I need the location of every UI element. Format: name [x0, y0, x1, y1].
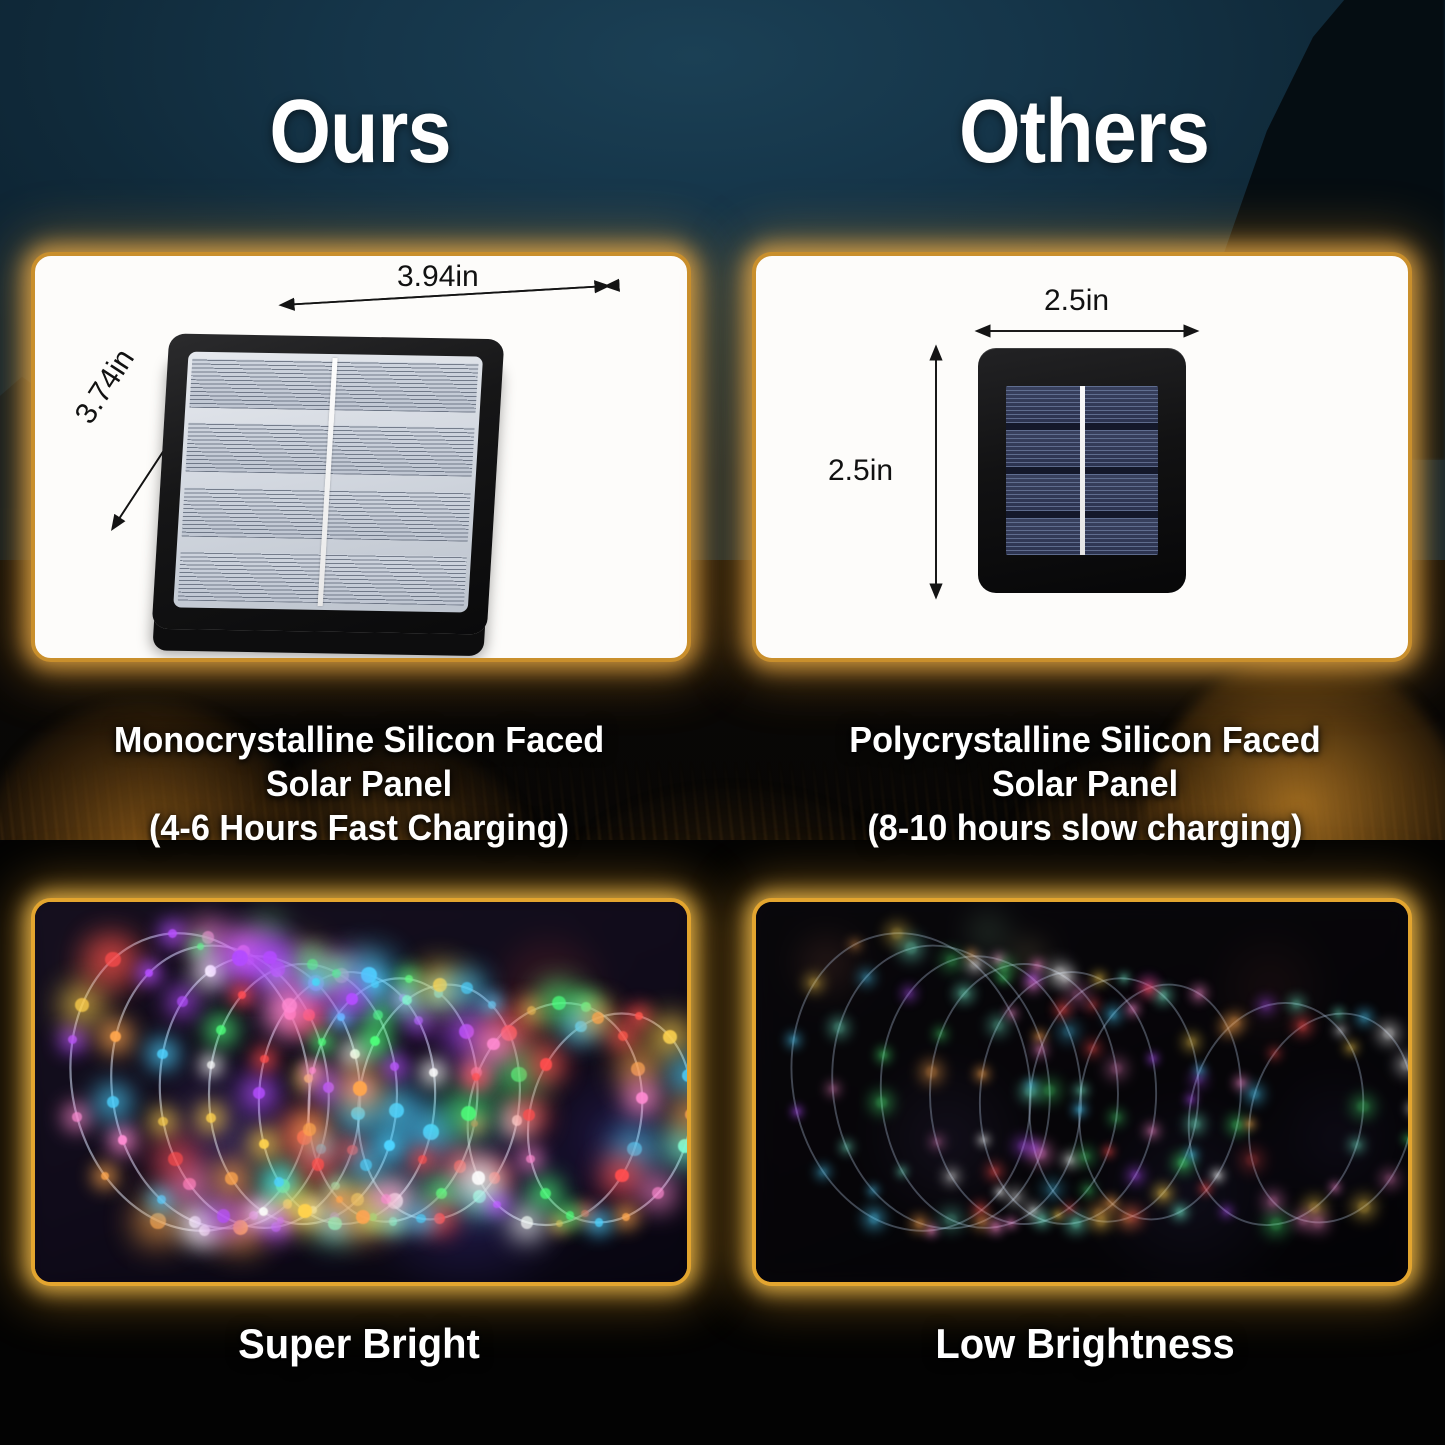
led-light-dot: [1058, 1005, 1067, 1014]
led-light-dot: [323, 1082, 334, 1093]
led-light-dot: [592, 1012, 604, 1024]
led-light-dot: [678, 1139, 687, 1153]
led-light-dot: [1332, 1184, 1338, 1190]
led-light-dot: [259, 1207, 268, 1216]
led-light-dot: [581, 1002, 591, 1012]
led-light-dot: [373, 1010, 383, 1020]
led-light-dot: [843, 1143, 850, 1150]
led-light-dot: [1360, 1013, 1369, 1022]
led-light-dot: [1036, 1046, 1044, 1054]
led-light-dot: [1109, 1010, 1118, 1019]
led-light-dot: [331, 1182, 339, 1190]
led-light-dot: [1047, 1184, 1058, 1195]
led-light-dot: [225, 1172, 237, 1184]
led-light-dot: [1038, 1215, 1046, 1223]
led-light-dot: [1084, 1186, 1092, 1194]
led-light-dot: [1197, 1067, 1203, 1073]
led-light-dot: [1000, 975, 1006, 981]
led-light-dot: [575, 1021, 587, 1033]
led-light-dot: [461, 1106, 476, 1121]
led-light-dot: [947, 1172, 956, 1181]
led-light-dot: [682, 1069, 687, 1082]
led-light-dot: [627, 1142, 642, 1157]
led-light-dot: [1246, 1154, 1257, 1165]
led-light-dot: [307, 959, 318, 970]
led-light-dot: [1401, 1059, 1408, 1070]
led-light-dot: [1080, 1152, 1090, 1162]
led-light-dot: [1008, 1010, 1015, 1017]
led-light-dot: [1150, 1055, 1156, 1061]
led-wire-loop: [764, 911, 1057, 1254]
led-light-dot: [1072, 989, 1084, 1001]
led-light-dot: [1036, 1033, 1043, 1040]
led-light-dot: [1066, 1205, 1073, 1212]
led-light-dot: [75, 998, 89, 1012]
led-light-dot: [423, 1124, 439, 1140]
led-light-dot: [316, 1144, 325, 1153]
led-light-dot: [303, 1009, 315, 1021]
led-light-dot: [1190, 1119, 1200, 1129]
led-string-lights-bright-photo: [35, 902, 687, 1282]
led-light-dot: [487, 1038, 499, 1050]
led-light-dot: [869, 1213, 880, 1224]
led-light-dot: [303, 1123, 315, 1135]
led-light-dot: [381, 1194, 391, 1204]
led-light-dot: [328, 1217, 341, 1230]
led-light-dot: [1077, 1087, 1085, 1095]
led-light-dot: [405, 975, 413, 983]
led-light-dot: [72, 1112, 82, 1122]
led-wire-loop: [43, 911, 336, 1254]
led-light-dot: [1194, 1075, 1203, 1084]
led-light-dot: [1029, 980, 1038, 989]
led-light-dot: [851, 941, 858, 948]
led-light-dot: [891, 928, 902, 939]
led-light-dot: [1111, 1063, 1122, 1074]
led-light-dot: [1105, 1148, 1111, 1154]
led-light-dot: [1034, 962, 1041, 969]
led-light-dot: [1076, 1106, 1083, 1113]
led-light-dot: [433, 978, 447, 992]
others-width-dimension-label: 2.5in: [1044, 284, 1109, 318]
led-light-dot: [197, 943, 204, 950]
led-light-dot: [157, 1195, 166, 1204]
led-light-dot: [631, 1062, 645, 1076]
led-light-dot: [371, 980, 379, 988]
led-light-dot: [418, 1155, 427, 1164]
led-light-dot: [945, 1214, 957, 1226]
led-light-dot: [1158, 1189, 1167, 1198]
panel-glass-surface: [173, 352, 483, 613]
led-light-dot: [1063, 1026, 1074, 1037]
led-light-dot: [970, 960, 979, 969]
led-wire-loop: [297, 970, 490, 1230]
led-light-dot: [270, 961, 285, 976]
led-light-dot: [337, 1013, 345, 1021]
led-light-dot: [105, 952, 120, 967]
led-light-dot: [318, 1038, 326, 1046]
column-titles: Ours Others: [0, 78, 1445, 190]
led-light-dot: [1008, 1220, 1014, 1226]
caption-line: Polycrystalline Silicon Faced: [742, 718, 1428, 762]
led-light-dot: [107, 1096, 119, 1108]
ours-panel-stage: 3.94in 3.74in: [35, 256, 687, 658]
led-light-dot: [819, 1168, 827, 1176]
led-light-dot: [347, 1145, 357, 1155]
led-light-dot: [471, 1120, 478, 1127]
polycrystalline-solar-panel-graphic: [978, 348, 1186, 593]
led-light-dot: [1053, 967, 1065, 979]
led-light-dot: [1337, 1027, 1344, 1034]
led-light-dot: [389, 1217, 398, 1226]
panel-glass-surface: [1006, 386, 1158, 555]
led-light-dot: [312, 978, 320, 986]
led-string-lights-dim-photo: [756, 902, 1408, 1282]
caption-super-bright: Super Bright: [16, 1318, 702, 1370]
led-light-dot: [905, 989, 914, 998]
led-light-dot: [459, 1024, 474, 1039]
led-light-dot: [472, 1171, 485, 1184]
caption-line: Solar Panel: [16, 762, 702, 806]
led-light-dot: [1237, 1079, 1245, 1087]
led-light-dot: [1358, 1201, 1369, 1212]
led-light-dot: [205, 965, 216, 976]
others-height-dimension-label: 2.5in: [828, 454, 893, 488]
led-light-dot: [206, 1113, 216, 1123]
led-light-dot: [1313, 1217, 1323, 1227]
led-light-dot: [1383, 1028, 1394, 1039]
led-light-dot: [1178, 1158, 1188, 1168]
led-light-dot: [622, 1213, 630, 1221]
led-light-dot: [829, 1085, 837, 1093]
led-light-dot: [389, 1103, 404, 1118]
led-light-dot: [454, 1160, 467, 1173]
led-light-dot: [501, 1025, 517, 1041]
led-light-dot: [177, 996, 188, 1007]
led-light-dot: [615, 1169, 629, 1183]
led-light-dot: [928, 1227, 935, 1234]
others-panel-stage: 2.5in 2.5in: [756, 256, 1408, 658]
title-others: Others: [766, 78, 1401, 186]
led-light-dot: [521, 1216, 533, 1228]
led-light-dot: [1025, 1087, 1035, 1097]
monocrystalline-solar-panel-graphic: [152, 333, 505, 634]
led-light-dot: [663, 1030, 677, 1044]
led-light-dot: [118, 1135, 127, 1144]
caption-others-panel: Polycrystalline Silicon Faced Solar Pane…: [742, 718, 1428, 850]
led-light-dot: [1129, 1005, 1137, 1013]
led-light-dot: [870, 1187, 877, 1194]
led-light-dot: [993, 1020, 1003, 1030]
led-light-dot: [353, 1081, 367, 1095]
comparison-layout: Ours Others: [0, 0, 1445, 1445]
caption-ours-panel: Monocrystalline Silicon Faced Solar Pane…: [16, 718, 702, 850]
led-light-dot: [1144, 984, 1153, 993]
led-light-dot: [1357, 1101, 1369, 1113]
card-super-bright-lights: [31, 898, 691, 1286]
card-others-solar-panel: 2.5in 2.5in: [752, 252, 1412, 662]
led-light-dot: [1232, 1120, 1242, 1130]
led-light-dot: [1405, 1136, 1408, 1142]
led-light-dot: [1261, 1001, 1270, 1010]
led-light-dot: [999, 962, 1009, 972]
led-light-dot: [540, 1058, 552, 1070]
led-light-dot: [997, 1189, 1003, 1195]
led-light-dot: [312, 1158, 325, 1171]
led-light-dot: [1112, 1113, 1120, 1121]
led-light-dot: [298, 1204, 311, 1217]
led-light-dot: [1176, 1208, 1184, 1216]
led-light-dot: [1246, 1121, 1253, 1128]
led-light-dot: [157, 1049, 167, 1059]
led-light-dot: [977, 1217, 986, 1226]
led-light-dot: [238, 991, 246, 999]
led-light-dot: [249, 1211, 258, 1220]
led-light-dot: [489, 1172, 500, 1183]
led-light-dot: [1223, 1208, 1230, 1215]
led-light-dot: [1195, 989, 1204, 998]
caption-line: (4-6 Hours Fast Charging): [16, 806, 702, 850]
led-light-dot: [168, 1152, 183, 1167]
ours-width-dimension-label: 3.94in: [397, 260, 479, 294]
caption-line: Solar Panel: [742, 762, 1428, 806]
caption-line: (8-10 hours slow charging): [742, 806, 1428, 850]
led-light-dot: [794, 1108, 800, 1114]
led-light-dot: [566, 1211, 574, 1219]
led-light-dot: [346, 993, 358, 1005]
led-light-dot: [1214, 1172, 1221, 1179]
led-light-dot: [384, 1140, 395, 1151]
led-light-dot: [168, 929, 177, 938]
led-light-dot: [1202, 1185, 1209, 1192]
led-light-dot: [260, 1055, 268, 1063]
led-light-dot: [990, 1167, 999, 1176]
led-light-dot: [1128, 1211, 1139, 1222]
led-light-dot: [183, 1178, 196, 1191]
card-low-brightness-lights: [752, 898, 1412, 1286]
caption-line: Monocrystalline Silicon Faced: [16, 718, 702, 762]
led-light-dot: [635, 1012, 643, 1020]
panel-busbar: [1080, 386, 1085, 555]
title-ours: Ours: [42, 78, 677, 186]
led-light-dot: [1131, 1171, 1140, 1180]
led-light-dot: [556, 1220, 563, 1227]
led-light-dot: [834, 1022, 844, 1032]
card-ours-solar-panel: 3.94in 3.74in: [31, 252, 691, 662]
led-light-dot: [595, 1218, 603, 1226]
led-light-dot: [581, 1210, 588, 1217]
led-light-dot: [926, 1066, 938, 1078]
led-light-dot: [1107, 1199, 1115, 1207]
led-light-dot: [488, 1001, 496, 1009]
led-light-dot: [1071, 1218, 1081, 1228]
led-light-dot: [899, 1168, 905, 1174]
caption-low-brightness: Low Brightness: [742, 1318, 1428, 1370]
led-light-dot: [976, 1205, 984, 1213]
led-light-dot: [1292, 1000, 1301, 1009]
led-light-dot: [1271, 1050, 1278, 1057]
led-light-dot: [1187, 1037, 1196, 1046]
led-light-dot: [1335, 1010, 1342, 1017]
led-light-dot: [862, 973, 871, 982]
led-light-dot: [304, 1074, 313, 1083]
led-light-dot: [992, 1223, 1000, 1231]
led-light-dot: [232, 950, 248, 966]
led-light-dot: [150, 1213, 166, 1229]
led-light-dot: [283, 1199, 292, 1208]
led-light-dot: [1011, 1192, 1020, 1201]
led-light-dot: [540, 1188, 551, 1199]
